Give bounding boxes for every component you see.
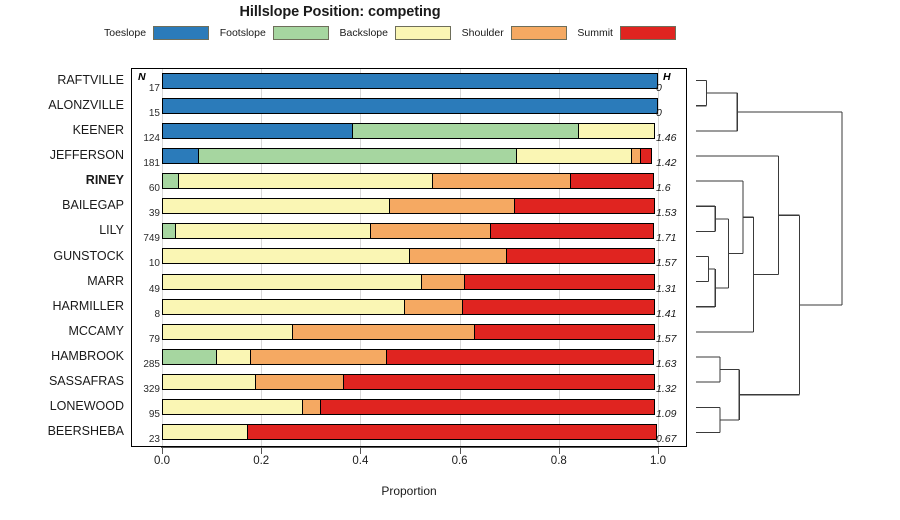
bar-segment-backslope[interactable] [162,248,410,264]
chart-row: 791.57 [132,320,686,345]
stacked-bar[interactable] [162,73,658,89]
dendrogram-svg [692,68,898,447]
y-axis-label-lily: LILY [0,223,124,237]
row-n-value: 124 [132,133,160,144]
bar-segment-summit[interactable] [462,299,655,315]
x-tick-label: 0.2 [253,455,269,467]
bar-segment-shoulder[interactable] [255,374,344,390]
bar-segment-shoulder[interactable] [432,173,571,189]
row-n-value: 95 [132,409,160,420]
y-axis-label-lonewood: LONEWOOD [0,399,124,413]
row-n-value: 23 [132,434,160,445]
row-n-value: 749 [132,233,160,244]
row-n-value: 60 [132,183,160,194]
bar-segment-backslope[interactable] [162,424,249,440]
row-h-value: 0 [656,107,690,119]
x-tick-label: 0.4 [352,455,368,467]
stacked-bar[interactable] [162,98,658,114]
bar-segment-backslope[interactable] [162,399,303,415]
row-h-value: 1.63 [656,358,690,370]
row-n-value: 285 [132,359,160,370]
row-h-value: 1.31 [656,283,690,295]
chart-row: 2851.63 [132,345,686,370]
y-axis-label-mccamy: MCCAMY [0,324,124,338]
row-n-value: 39 [132,208,160,219]
bar-segment-shoulder[interactable] [302,399,322,415]
bar-segment-toeslope[interactable] [162,148,199,164]
row-n-value: 329 [132,384,160,395]
y-axis-label-hambrook: HAMBROOK [0,349,124,363]
bar-segment-backslope[interactable] [162,198,390,214]
legend-label-shoulder: Shoulder [462,27,504,39]
chart-row: 3291.32 [132,371,686,396]
row-h-value: 1.57 [656,257,690,269]
row-h-value: 1.71 [656,232,690,244]
stacked-bar[interactable] [162,173,658,189]
y-axis-label-alonzville: ALONZVILLE [0,98,124,112]
legend-label-toeslope: Toeslope [104,27,146,39]
bar-segment-summit[interactable] [640,148,652,164]
stacked-bar[interactable] [162,349,658,365]
bar-segment-backslope[interactable] [175,223,371,239]
row-h-value: 1.09 [656,408,690,420]
bar-segment-shoulder[interactable] [250,349,387,365]
stacked-bar[interactable] [162,223,658,239]
bar-segment-summit[interactable] [464,274,655,290]
row-n-value: 17 [132,83,160,94]
bar-segment-backslope[interactable] [162,324,293,340]
row-n-value: 181 [132,158,160,169]
y-axis-label-bailegap: BAILEGAP [0,198,124,212]
chart-row: 170 [132,69,686,94]
row-h-value: 1.46 [656,132,690,144]
x-axis: 0.00.20.40.60.81.0 [131,447,687,477]
bar-segment-shoulder[interactable] [404,299,464,315]
chart-row: 81.41 [132,295,686,320]
legend: Toeslope Footslope Backslope Shoulder Su… [104,24,676,42]
y-axis-label-keener: KEENER [0,123,124,137]
bar-segment-shoulder[interactable] [421,274,466,290]
legend-item-toeslope[interactable]: Toeslope [104,26,209,40]
legend-swatch-backslope [395,26,451,40]
x-tick-label: 1.0 [650,455,666,467]
stacked-bar[interactable] [162,248,658,264]
bar-segment-summit[interactable] [490,223,654,239]
x-tick [360,447,361,454]
row-h-value: 1.42 [656,157,690,169]
bar-segment-summit[interactable] [343,374,655,390]
bar-segment-toeslope[interactable] [162,98,658,114]
row-n-value: 10 [132,258,160,269]
bar-segment-footslope[interactable] [352,123,580,139]
stacked-bar[interactable] [162,324,658,340]
y-axis-label-jefferson: JEFFERSON [0,148,124,162]
row-n-value: 8 [132,309,160,320]
legend-item-summit[interactable]: Summit [577,26,676,40]
row-n-value: 15 [132,108,160,119]
legend-item-shoulder[interactable]: Shoulder [462,26,567,40]
plot-panel: NH1701501241.461811.42601.6391.537491.71… [131,68,687,447]
bar-segment-footslope[interactable] [162,173,179,189]
chart-row: 1811.42 [132,144,686,169]
row-h-value: 0.67 [656,433,690,445]
chart-title: Hillslope Position: competing [0,4,680,20]
row-h-value: 0 [656,82,690,94]
chart-row: 951.09 [132,396,686,421]
bar-segment-summit[interactable] [247,424,656,440]
bar-segment-backslope[interactable] [178,173,433,189]
dendrogram [692,68,898,447]
legend-item-backslope[interactable]: Backslope [340,26,451,40]
stacked-bar[interactable] [162,424,658,440]
bar-segment-footslope[interactable] [162,349,218,365]
x-axis-line [161,447,659,448]
chart-row: 230.67 [132,421,686,446]
y-axis-label-beersheba: BEERSHEBA [0,424,124,438]
chart-row: 491.31 [132,270,686,295]
bar-segment-summit[interactable] [386,349,654,365]
row-n-value: 49 [132,284,160,295]
bar-segment-backslope[interactable] [216,349,252,365]
stacked-bar[interactable] [162,274,658,290]
row-h-value: 1.53 [656,207,690,219]
legend-item-footslope[interactable]: Footslope [220,26,329,40]
legend-swatch-shoulder [511,26,567,40]
y-axis-label-marr: MARR [0,274,124,288]
legend-label-summit: Summit [577,27,613,39]
chart-row: 101.57 [132,245,686,270]
x-tick-label: 0.6 [452,455,468,467]
row-h-value: 1.41 [656,308,690,320]
row-h-value: 1.6 [656,182,690,194]
bar-segment-summit[interactable] [506,248,655,264]
bar-segment-shoulder[interactable] [389,198,515,214]
y-axis-label-gunstock: GUNSTOCK [0,249,124,263]
y-axis-label-riney: RINEY [0,173,124,187]
bar-segment-backslope[interactable] [516,148,633,164]
bar-segment-shoulder[interactable] [292,324,476,340]
stacked-bar[interactable] [162,374,658,390]
bar-segment-toeslope[interactable] [162,123,353,139]
legend-swatch-summit [620,26,676,40]
chart-row: 7491.71 [132,220,686,245]
y-axis-label-sassafras: SASSAFRAS [0,374,124,388]
bar-segment-summit[interactable] [570,173,654,189]
bar-segment-summit[interactable] [474,324,655,340]
x-tick [261,447,262,454]
x-tick [559,447,560,454]
bar-segment-backslope[interactable] [162,299,405,315]
x-tick-label: 0.0 [154,455,170,467]
bar-segment-summit[interactable] [320,399,655,415]
bar-segment-summit[interactable] [514,198,655,214]
stacked-bar[interactable] [162,198,658,214]
bar-segment-backslope[interactable] [578,123,655,139]
bar-segment-backslope[interactable] [162,274,422,290]
stacked-bar[interactable] [162,399,658,415]
bar-segment-backslope[interactable] [162,374,256,390]
x-tick [162,447,163,454]
chart-row: 1241.46 [132,119,686,144]
row-h-value: 1.57 [656,333,690,345]
chart-row: 601.6 [132,170,686,195]
legend-label-backslope: Backslope [340,27,388,39]
x-tick-label: 0.8 [551,455,567,467]
x-tick [460,447,461,454]
bar-segment-toeslope[interactable] [162,73,658,89]
chart-row: 391.53 [132,195,686,220]
legend-label-footslope: Footslope [220,27,266,39]
stacked-bar[interactable] [162,123,658,139]
bar-segment-footslope[interactable] [198,148,518,164]
y-axis-labels: RAFTVILLEALONZVILLEKEENERJEFFERSONRINEYB… [0,68,124,447]
legend-swatch-footslope [273,26,329,40]
stacked-bar[interactable] [162,148,658,164]
chart-row: 150 [132,94,686,119]
legend-swatch-toeslope [153,26,209,40]
bar-segment-shoulder[interactable] [409,248,508,264]
bar-segment-shoulder[interactable] [370,223,492,239]
x-tick [658,447,659,454]
row-n-value: 79 [132,334,160,345]
row-h-value: 1.32 [656,383,690,395]
y-axis-label-harmiller: HARMILLER [0,299,124,313]
stacked-bar[interactable] [162,299,658,315]
y-axis-label-raftville: RAFTVILLE [0,73,124,87]
x-axis-title: Proportion [131,484,687,498]
